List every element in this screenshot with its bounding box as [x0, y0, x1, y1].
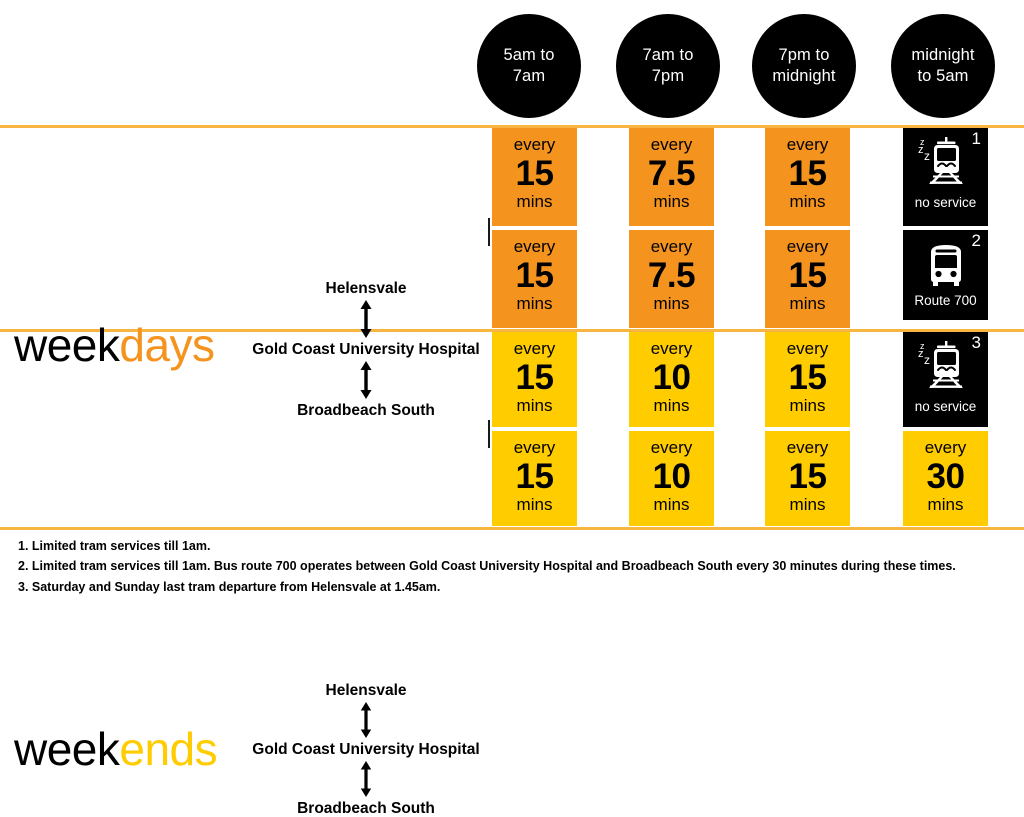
- cell-every-label: every: [492, 136, 577, 154]
- frequency-cell-weekend-seg2-5am7am: every 15 mins: [492, 431, 577, 526]
- station-broadbeach-south: Broadbeach South: [250, 800, 482, 817]
- label-cell-separator: [488, 420, 490, 448]
- bus-replacement-cell-weekday-seg2: 2 Route 700: [903, 230, 988, 320]
- time-period-line2: to 5am: [905, 66, 980, 87]
- cell-every-label: every: [765, 136, 850, 154]
- frequency-cell-weekday-seg1-5am7am: every 15 mins: [492, 128, 577, 226]
- cell-every-label: every: [765, 439, 850, 457]
- cell-value: 15: [765, 154, 850, 193]
- cell-value: 15: [765, 358, 850, 397]
- cell-unit-label: mins: [629, 496, 714, 514]
- time-period-line1: midnight: [905, 45, 980, 66]
- cell-value: 7.5: [629, 154, 714, 193]
- cell-unit-label: mins: [629, 193, 714, 211]
- cell-unit-label: mins: [629, 295, 714, 313]
- weekends-section: weekends Helensvale Gold Coast Universit…: [0, 332, 1024, 526]
- cell-unit-label: mins: [765, 397, 850, 415]
- weekdays-section: weekdays Helensvale Gold Coast Universit…: [0, 128, 1024, 328]
- no-service-cell-weekend-seg1: 3 z z z no service: [903, 332, 988, 427]
- cell-value: 7.5: [629, 256, 714, 295]
- cell-value: 15: [492, 256, 577, 295]
- cell-value: 15: [765, 457, 850, 496]
- time-period-line2: 7pm: [636, 66, 699, 87]
- time-period-circle-7am-7pm: 7am to 7pm: [616, 14, 720, 118]
- footnote-marker: 3: [972, 334, 981, 351]
- cell-unit-label: mins: [629, 397, 714, 415]
- station-helensvale: Helensvale: [250, 280, 482, 297]
- time-period-line1: 7pm to: [766, 45, 841, 66]
- frequency-cell-weekend-seg2-7pmmidnight: every 15 mins: [765, 431, 850, 526]
- bus-route-caption: Route 700: [914, 294, 976, 308]
- cell-unit-label: mins: [492, 295, 577, 313]
- no-service-caption: no service: [915, 196, 977, 210]
- svg-text:z: z: [918, 348, 924, 360]
- weekends-title-part2: ends: [119, 723, 217, 775]
- time-period-line1: 7am to: [636, 45, 699, 66]
- cell-every-label: every: [629, 238, 714, 256]
- station-helensvale: Helensvale: [250, 682, 482, 699]
- cell-every-label: every: [765, 238, 850, 256]
- time-period-line2: 7am: [497, 66, 560, 87]
- cell-every-label: every: [492, 238, 577, 256]
- footnote-1: 1. Limited tram services till 1am.: [18, 536, 1018, 556]
- cell-every-label: every: [629, 340, 714, 358]
- time-period-circle-7pm-midnight: 7pm to midnight: [752, 14, 856, 118]
- frequency-cell-weekend-seg2-midnight5am: every 30 mins: [903, 431, 988, 526]
- cell-value: 30: [903, 457, 988, 496]
- cell-every-label: every: [765, 340, 850, 358]
- frequency-cell-weekday-seg1-7pmmidnight: every 15 mins: [765, 128, 850, 226]
- divider-bottom: [0, 527, 1024, 530]
- cell-value: 15: [492, 457, 577, 496]
- footnote-marker: 2: [972, 232, 981, 249]
- svg-text:z: z: [924, 149, 930, 163]
- frequency-cell-weekend-seg2-7am7pm: every 10 mins: [629, 431, 714, 526]
- cell-every-label: every: [629, 439, 714, 457]
- double-arrow-icon: [359, 760, 373, 798]
- cell-value: 15: [492, 154, 577, 193]
- frequency-cell-weekday-seg1-7am7pm: every 7.5 mins: [629, 128, 714, 226]
- cell-every-label: every: [492, 340, 577, 358]
- cell-value: 10: [629, 457, 714, 496]
- frequency-cell-weekday-seg2-7am7pm: every 7.5 mins: [629, 230, 714, 328]
- time-period-line2: midnight: [766, 66, 841, 87]
- svg-text:z: z: [918, 144, 924, 156]
- footnote-2: 2. Limited tram services till 1am. Bus r…: [18, 556, 1018, 576]
- cell-value: 15: [492, 358, 577, 397]
- footnote-marker: 1: [972, 130, 981, 147]
- label-cell-separator: [488, 218, 490, 246]
- cell-unit-label: mins: [765, 295, 850, 313]
- cell-value: 15: [765, 256, 850, 295]
- cell-every-label: every: [903, 439, 988, 457]
- frequency-cell-weekend-seg1-7am7pm: every 10 mins: [629, 332, 714, 427]
- cell-every-label: every: [492, 439, 577, 457]
- frequency-cell-weekday-seg2-5am7am: every 15 mins: [492, 230, 577, 328]
- time-period-header: 5am to 7am 7am to 7pm 7pm to midnight mi…: [0, 0, 1024, 126]
- time-period-circle-5am-7am: 5am to 7am: [477, 14, 581, 118]
- time-period-circle-midnight-5am: midnight to 5am: [891, 14, 995, 118]
- footnotes: 1. Limited tram services till 1am. 2. Li…: [18, 536, 1018, 597]
- no-service-caption: no service: [915, 400, 977, 414]
- cell-unit-label: mins: [765, 193, 850, 211]
- cell-unit-label: mins: [492, 397, 577, 415]
- cell-unit-label: mins: [492, 193, 577, 211]
- weekends-title-part1: week: [14, 723, 119, 775]
- bus-icon: [917, 236, 975, 292]
- cell-unit-label: mins: [765, 496, 850, 514]
- sleeping-tram-icon: z z z: [916, 134, 976, 194]
- station-gold-coast-university-hospital: Gold Coast University Hospital: [250, 741, 482, 758]
- time-period-line1: 5am to: [497, 45, 560, 66]
- cell-every-label: every: [629, 136, 714, 154]
- cell-unit-label: mins: [492, 496, 577, 514]
- weekends-route-diagram: Helensvale Gold Coast University Hospita…: [250, 682, 482, 817]
- svg-text:z: z: [924, 353, 930, 367]
- no-service-cell-weekday-seg1: 1 z z z no service: [903, 128, 988, 226]
- cell-value: 10: [629, 358, 714, 397]
- cell-unit-label: mins: [903, 496, 988, 514]
- double-arrow-icon: [359, 701, 373, 739]
- weekends-title: weekends: [14, 722, 217, 776]
- frequency-cell-weekend-seg1-5am7am: every 15 mins: [492, 332, 577, 427]
- frequency-cell-weekday-seg2-7pmmidnight: every 15 mins: [765, 230, 850, 328]
- sleeping-tram-icon: z z z: [916, 338, 976, 398]
- frequency-cell-weekend-seg1-7pmmidnight: every 15 mins: [765, 332, 850, 427]
